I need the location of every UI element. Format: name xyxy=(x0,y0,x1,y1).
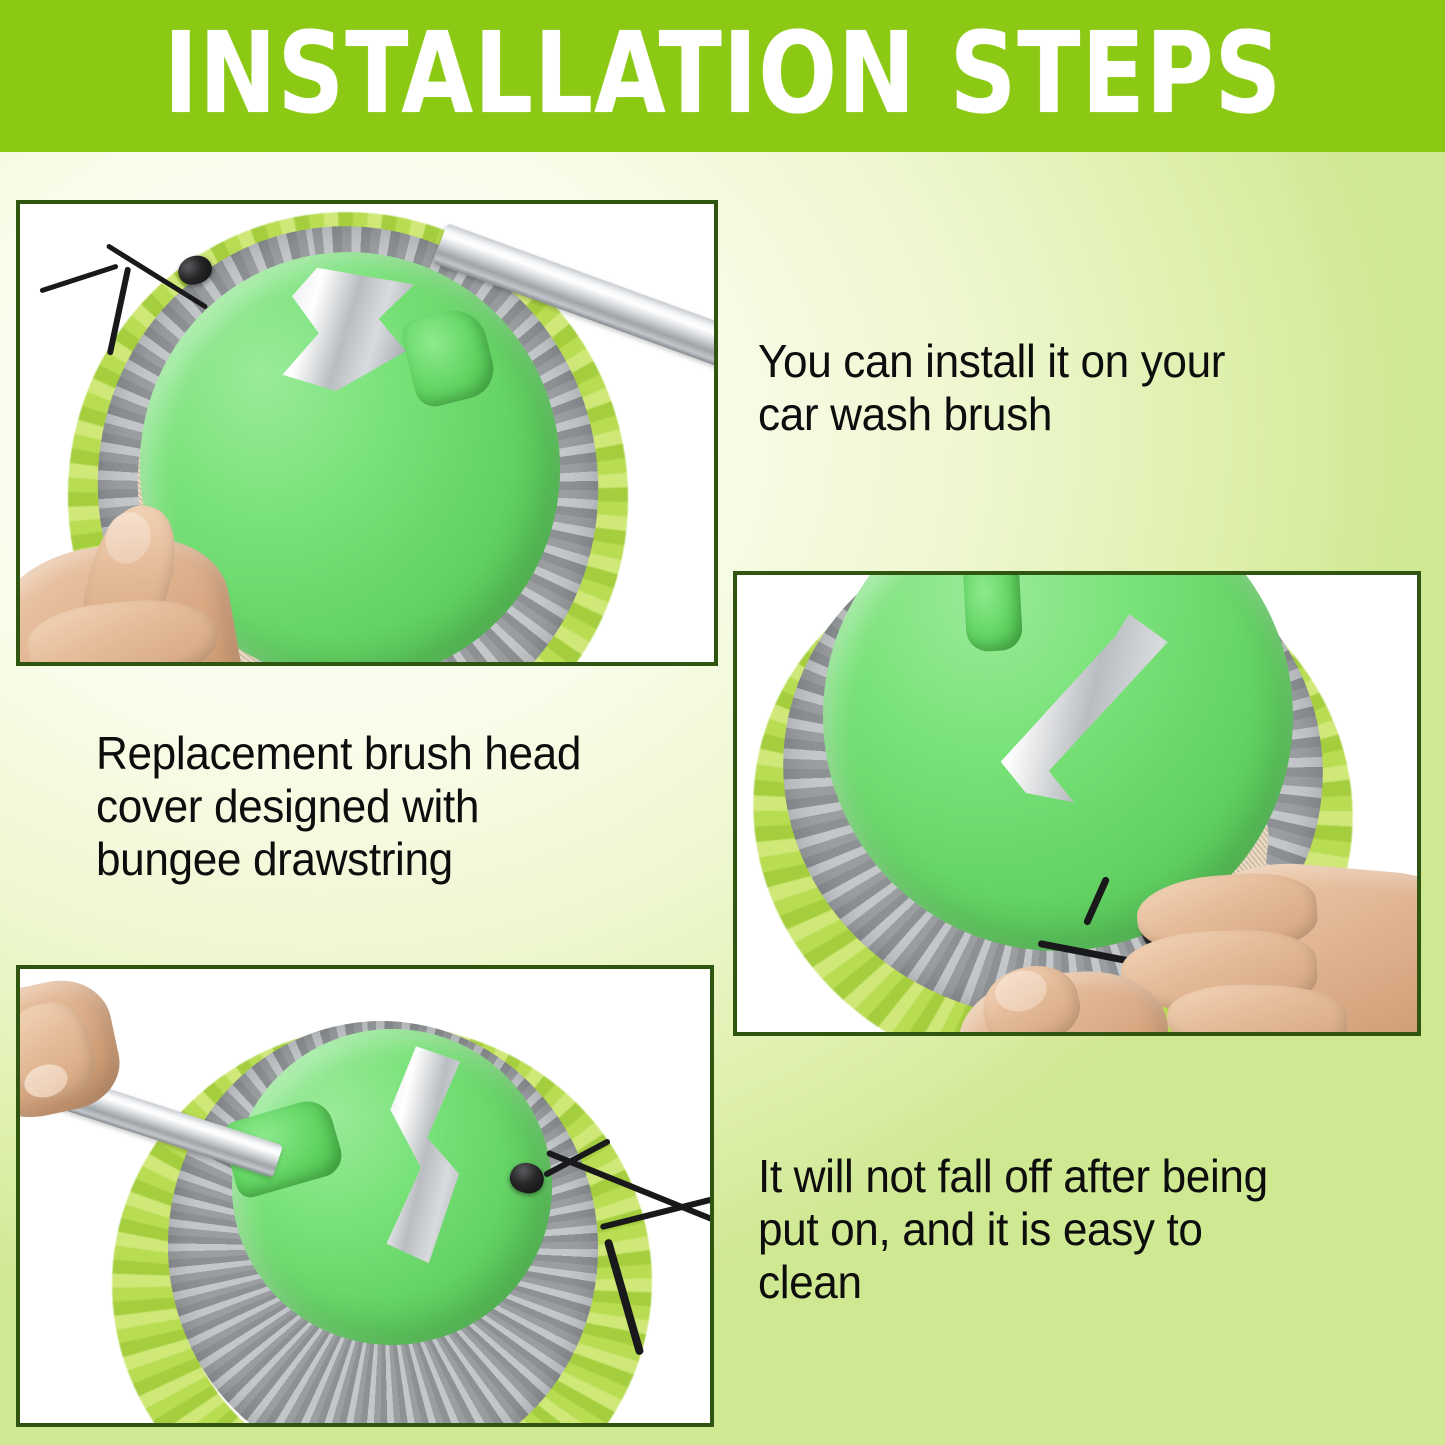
page-title: INSTALLATION STEPS xyxy=(163,18,1282,134)
photo-panel-pull-drawstring xyxy=(733,571,1421,1036)
brush-head-illustration-3 xyxy=(20,969,710,1423)
photo-panel-1-image xyxy=(20,204,714,662)
infographic-page: INSTALLATION STEPS xyxy=(0,0,1445,1445)
photo-panel-2-image xyxy=(737,575,1417,1032)
brush-head-illustration-2 xyxy=(737,575,1417,1032)
brush-head-illustration-1 xyxy=(20,204,714,662)
caption-install-on-brush: You can install it on your car wash brus… xyxy=(758,335,1334,441)
bungee-cord-icon xyxy=(39,263,119,293)
caption-will-not-fall-off: It will not fall off after being put on,… xyxy=(758,1150,1344,1309)
photo-panel-install-on-brush xyxy=(16,200,718,666)
photo-panel-3-image xyxy=(20,969,710,1423)
pole-socket-icon xyxy=(963,575,1023,652)
photo-panel-assembled-head xyxy=(16,965,714,1427)
header-band: INSTALLATION STEPS xyxy=(0,0,1445,152)
caption-replacement-cover: Replacement brush head cover designed wi… xyxy=(96,727,672,886)
